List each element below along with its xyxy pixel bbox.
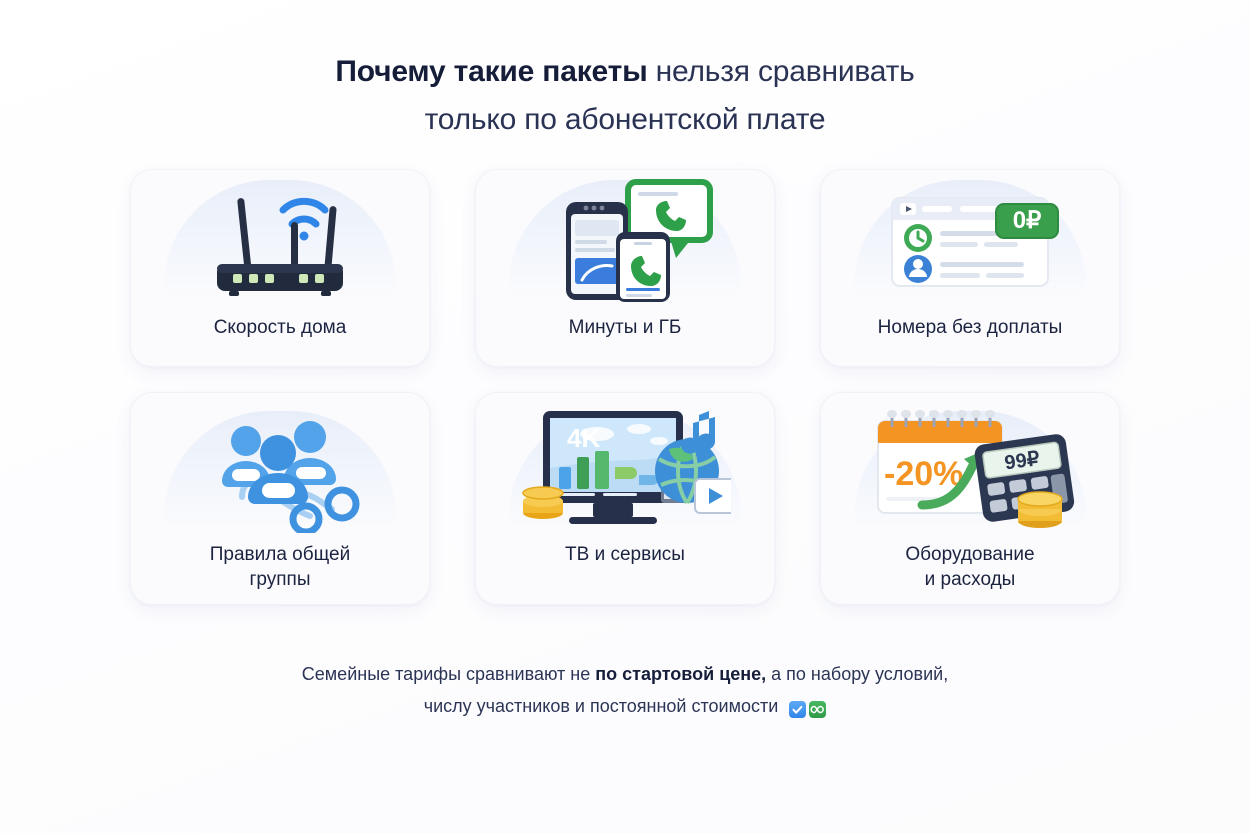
- footer-line-1: Семейные тарифы сравнивают не по стартов…: [175, 659, 1075, 691]
- card-group-rules[interactable]: Правила общей группы: [130, 392, 430, 605]
- card-illustration-area: [131, 393, 429, 533]
- resolution-label: 4K: [567, 423, 600, 453]
- card-label-group-rules: Правила общей группы: [196, 543, 364, 592]
- phones-call-icon: [530, 176, 720, 302]
- card-illustration-area: [131, 170, 429, 302]
- footer-line-2: числу участников и постоянной стоимости: [175, 691, 1075, 726]
- card-illustration-area: 4K: [476, 393, 774, 533]
- card-label-equipment-costs: Оборудование и расходы: [891, 543, 1048, 592]
- title-normal-part: нельзя сравнивать: [648, 55, 915, 88]
- card-numbers-no-fee[interactable]: 0₽ Номера без доплаты: [820, 169, 1120, 367]
- card-label-speed-home: Скорость дома: [200, 316, 361, 341]
- footer-text-bold: по стартовой цене,: [595, 664, 766, 684]
- title-line-1: Почему такие пакеты нельзя сравнивать: [335, 52, 914, 91]
- coins-stack: [523, 487, 563, 519]
- router-wifi-icon: [185, 176, 375, 302]
- card-label-minutes-gb: Минуты и ГБ: [555, 316, 696, 341]
- music-note-icon: [681, 411, 715, 454]
- card-label-numbers-no-fee: Номера без доплаты: [864, 316, 1077, 341]
- card-equipment-costs[interactable]: -20% 99₽: [820, 392, 1120, 605]
- svg-text:0₽: 0₽: [1013, 207, 1042, 234]
- feature-card-grid: Скорость дома: [130, 169, 1120, 605]
- card-illustration-area: [476, 170, 774, 302]
- title-bold-part: Почему такие пакеты: [335, 55, 647, 88]
- footer-note: Семейные тарифы сравнивают не по стартов…: [175, 659, 1075, 725]
- footer-text-b: а по набору условий,: [766, 664, 948, 684]
- zero-price-badge: 0₽: [996, 204, 1058, 238]
- discount-label: -20%: [884, 455, 963, 493]
- card-tv-services[interactable]: 4K: [475, 392, 775, 605]
- play-chip: [900, 203, 916, 215]
- people-network-icon: [182, 401, 378, 533]
- coins-stack: [1018, 492, 1062, 528]
- card-minutes-gb[interactable]: Минуты и ГБ: [475, 169, 775, 367]
- title-line-2: только по абонентской плате: [335, 100, 914, 139]
- document-zero-price-icon: 0₽: [872, 176, 1068, 302]
- footer-text-a: Семейные тарифы сравнивают не: [302, 664, 595, 684]
- infinity-badge-icon: [809, 701, 826, 718]
- card-illustration-area: -20% 99₽: [821, 393, 1119, 533]
- tv-media-icon: 4K: [519, 401, 731, 533]
- infographic-page: Почему такие пакеты нельзя сравнивать то…: [0, 0, 1250, 833]
- footer-badges: [786, 694, 826, 726]
- calendar-calculator-icon: -20% 99₽: [864, 401, 1076, 533]
- page-title: Почему такие пакеты нельзя сравнивать то…: [335, 52, 914, 139]
- card-speed-home[interactable]: Скорость дома: [130, 169, 430, 367]
- footer-text-c: числу участников и постоянной стоимости: [424, 696, 779, 716]
- card-label-tv-services: ТВ и сервисы: [551, 543, 699, 568]
- check-badge-icon: [789, 701, 806, 718]
- card-illustration-area: 0₽: [821, 170, 1119, 302]
